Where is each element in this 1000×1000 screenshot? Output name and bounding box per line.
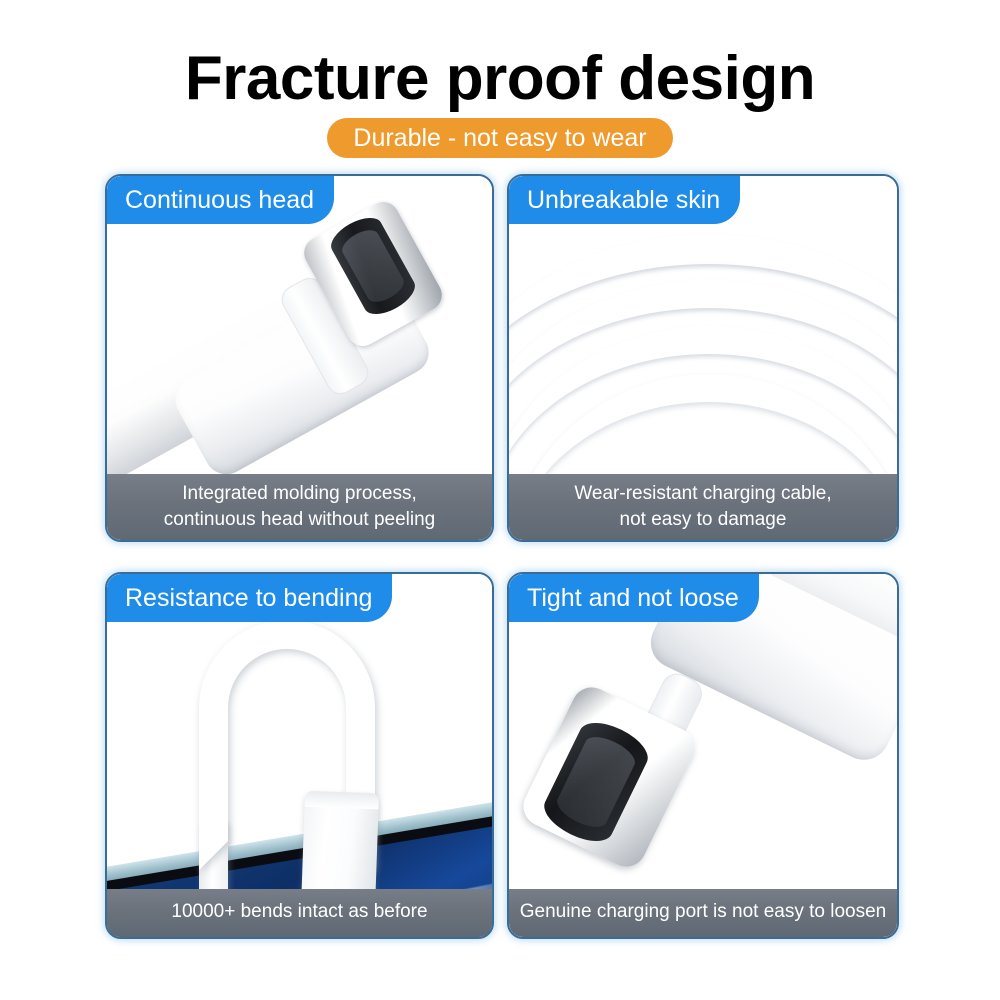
subtitle-container: Durable - not easy to wear: [0, 118, 1000, 158]
caption-line-1: Genuine charging port is not easy to loo…: [509, 899, 897, 925]
feature-card-resistance-to-bending: Resistance to bending 10000+ bends intac…: [105, 572, 494, 939]
feature-caption-4: Genuine charging port is not easy to loo…: [509, 889, 897, 937]
feature-label-2: Unbreakable skin: [509, 176, 740, 224]
feature-card-unbreakable-skin: Unbreakable skin Wear-resistant charging…: [507, 174, 899, 542]
caption-line-2: continuous head without peeling: [107, 507, 492, 533]
feature-image-bent-cable-phone: [107, 574, 492, 937]
feature-card-continuous-head: Continuous head Integrated molding proce…: [105, 174, 494, 542]
feature-label-4: Tight and not loose: [509, 574, 759, 622]
feature-label-3: Resistance to bending: [107, 574, 392, 622]
feature-caption-3: 10000+ bends intact as before: [107, 889, 492, 937]
infographic-page: Fracture proof design Durable - not easy…: [0, 0, 1000, 1000]
caption-line-1: Wear-resistant charging cable,: [509, 481, 897, 507]
caption-line-1: Integrated molding process,: [107, 481, 492, 507]
feature-image-usb-c-plug: [509, 574, 897, 937]
subtitle-badge: Durable - not easy to wear: [327, 118, 672, 158]
feature-caption-1: Integrated molding process, continuous h…: [107, 474, 492, 540]
feature-card-tight-and-not-loose: Tight and not loose Genuine charging por…: [507, 572, 899, 939]
caption-line-2: not easy to damage: [509, 507, 897, 533]
feature-caption-2: Wear-resistant charging cable, not easy …: [509, 474, 897, 540]
page-title: Fracture proof design: [0, 44, 1000, 114]
caption-line-1: 10000+ bends intact as before: [107, 899, 492, 925]
feature-label-1: Continuous head: [107, 176, 334, 224]
